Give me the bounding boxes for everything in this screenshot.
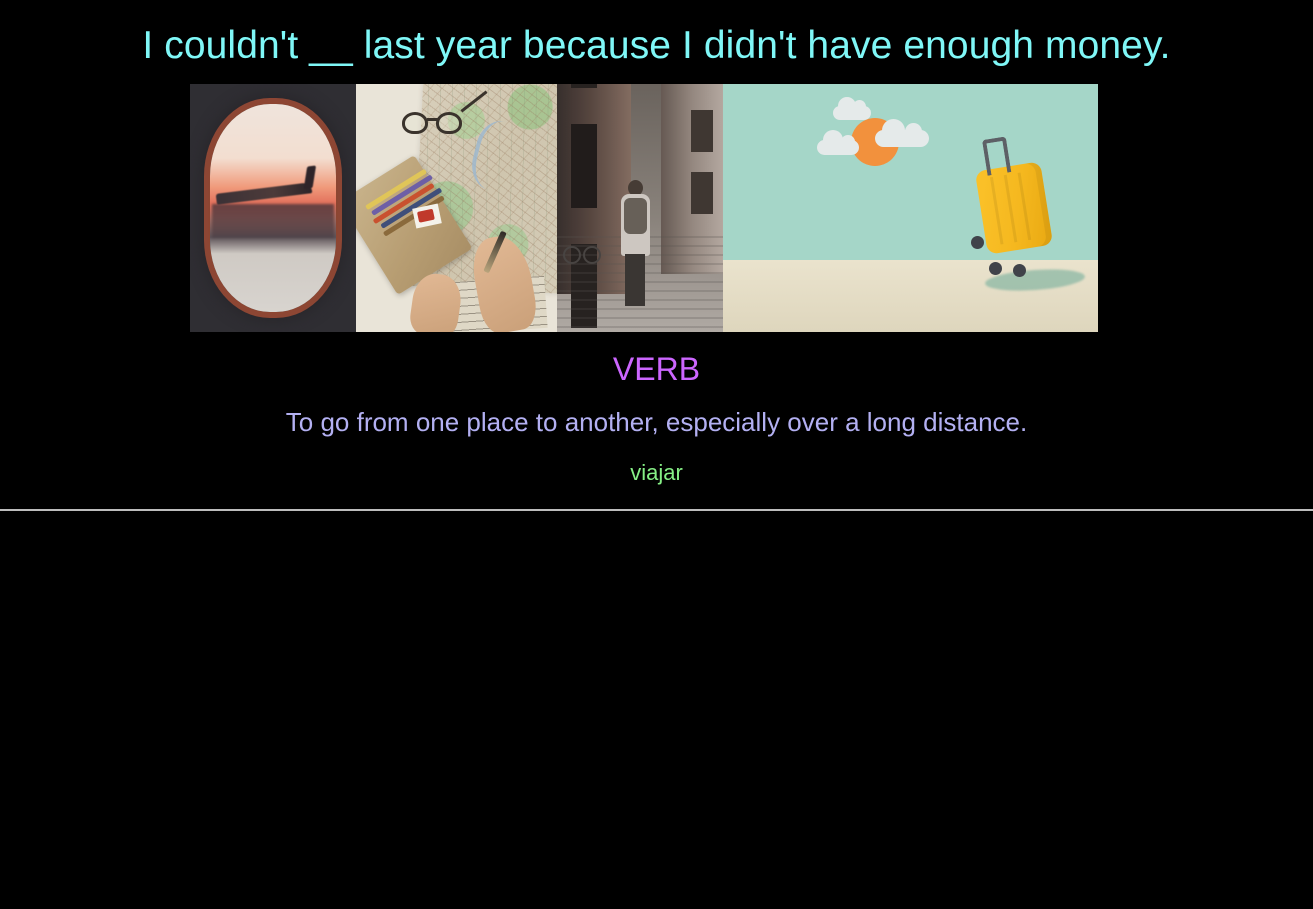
image-airplane-window-sunset (190, 84, 356, 332)
image-backpacker-street (557, 84, 723, 332)
horizon-band (212, 204, 334, 238)
cloud-icon-2 (817, 140, 859, 155)
suitcase-wheel-3 (1013, 264, 1026, 277)
suitcase-wheel-1 (971, 236, 984, 249)
glasses-icon (402, 110, 468, 136)
quiz-section: I couldn't __ last year because I didn't… (0, 0, 1313, 510)
image-strip (190, 84, 1098, 332)
cloud-icon-1 (833, 106, 871, 120)
bicycle-icon (563, 242, 603, 268)
image-map-pencils-hands (356, 84, 557, 332)
answer-section: travel ˈtrævəl I couldn't travel last ye… (0, 511, 1313, 909)
street-photo (557, 84, 723, 332)
translation-word: viajar (0, 459, 1313, 487)
image-suitcase-beach-illustration (723, 84, 1098, 332)
suitcase-wheel-2 (989, 262, 1002, 275)
flashcard-page: I couldn't __ last year because I didn't… (0, 0, 1313, 909)
suitcase-illustration (723, 84, 1098, 332)
definition-text: To go from one place to another, especia… (0, 406, 1313, 438)
part-of-speech-label: VERB (0, 350, 1313, 388)
map-photo (356, 84, 557, 332)
suitcase-icon (975, 161, 1053, 254)
cloud-icon-3 (875, 130, 929, 147)
airplane-window-photo (190, 84, 356, 332)
backpacker-figure (615, 180, 655, 310)
prompt-sentence: I couldn't __ last year because I didn't… (0, 22, 1313, 70)
